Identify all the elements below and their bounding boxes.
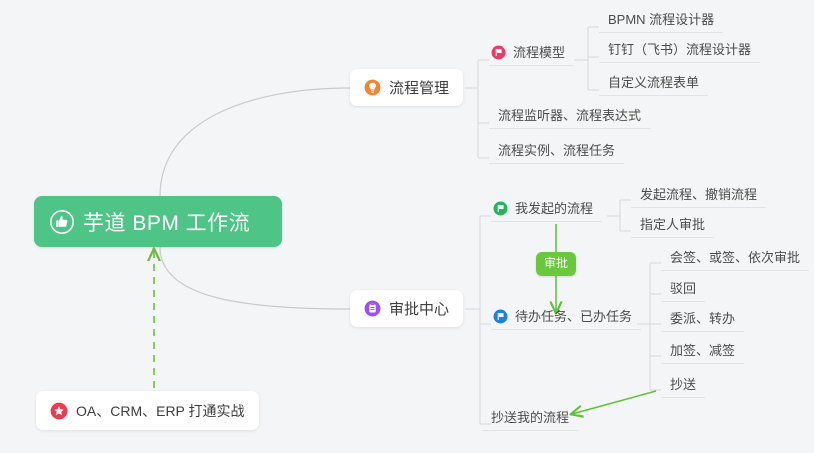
node-delegate-transfer[interactable]: 委派、转办: [661, 310, 744, 332]
node-listener-expression[interactable]: 流程监听器、流程表达式: [489, 107, 650, 129]
node-liucheng-moxing[interactable]: 流程模型: [489, 44, 574, 66]
branch-node-liucheng-guanli[interactable]: 流程管理: [350, 69, 463, 106]
node-label: 流程模型: [513, 44, 565, 61]
flag-icon: [491, 45, 506, 60]
clipboard-icon: [364, 300, 381, 317]
root-label: 芋道 BPM 工作流: [83, 207, 250, 237]
mindmap-canvas: 芋道 BPM 工作流 流程管理 流程模型 BPMN 流程设计器 钉钉（飞书）流程…: [0, 0, 814, 453]
flag-icon: [493, 309, 508, 324]
node-label: 待办任务、已办任务: [515, 308, 632, 325]
node-dingding-designer[interactable]: 钉钉（飞书）流程设计器: [599, 41, 760, 63]
node-instance-task[interactable]: 流程实例、流程任务: [489, 142, 624, 164]
branch-label: 流程管理: [389, 77, 449, 98]
node-custom-form[interactable]: 自定义流程表单: [599, 74, 708, 96]
node-assignee-approval[interactable]: 指定人审批: [631, 216, 714, 238]
node-label: 我发起的流程: [515, 200, 593, 217]
node-countersign[interactable]: 会签、或签、依次审批: [661, 249, 809, 271]
annotation-badge-shenpi: 审批: [536, 252, 576, 276]
floating-node-oa-crm-erp[interactable]: OA、CRM、ERP 打通实战: [36, 391, 259, 430]
node-bpmn-designer[interactable]: BPMN 流程设计器: [599, 11, 723, 33]
node-todo-done-task[interactable]: 待办任务、已办任务: [491, 308, 641, 330]
floating-node-label: OA、CRM、ERP 打通实战: [76, 401, 245, 421]
node-start-cancel-process[interactable]: 发起流程、撤销流程: [631, 186, 766, 208]
root-node[interactable]: 芋道 BPM 工作流: [34, 196, 282, 247]
node-carbon-copy[interactable]: 抄送: [661, 376, 705, 398]
star-icon: [50, 402, 68, 420]
node-add-remove-sign[interactable]: 加签、减签: [661, 342, 744, 364]
branch-label: 审批中心: [389, 298, 449, 319]
flag-icon: [493, 201, 508, 216]
node-cc-to-me-process[interactable]: 抄送我的流程: [482, 409, 578, 431]
node-reject[interactable]: 驳回: [661, 280, 705, 302]
thumbs-up-icon: [50, 210, 74, 234]
lightbulb-icon: [364, 79, 381, 96]
branch-node-shenpi-zhongxin[interactable]: 审批中心: [350, 290, 463, 327]
node-my-initiated-process[interactable]: 我发起的流程: [491, 200, 602, 222]
